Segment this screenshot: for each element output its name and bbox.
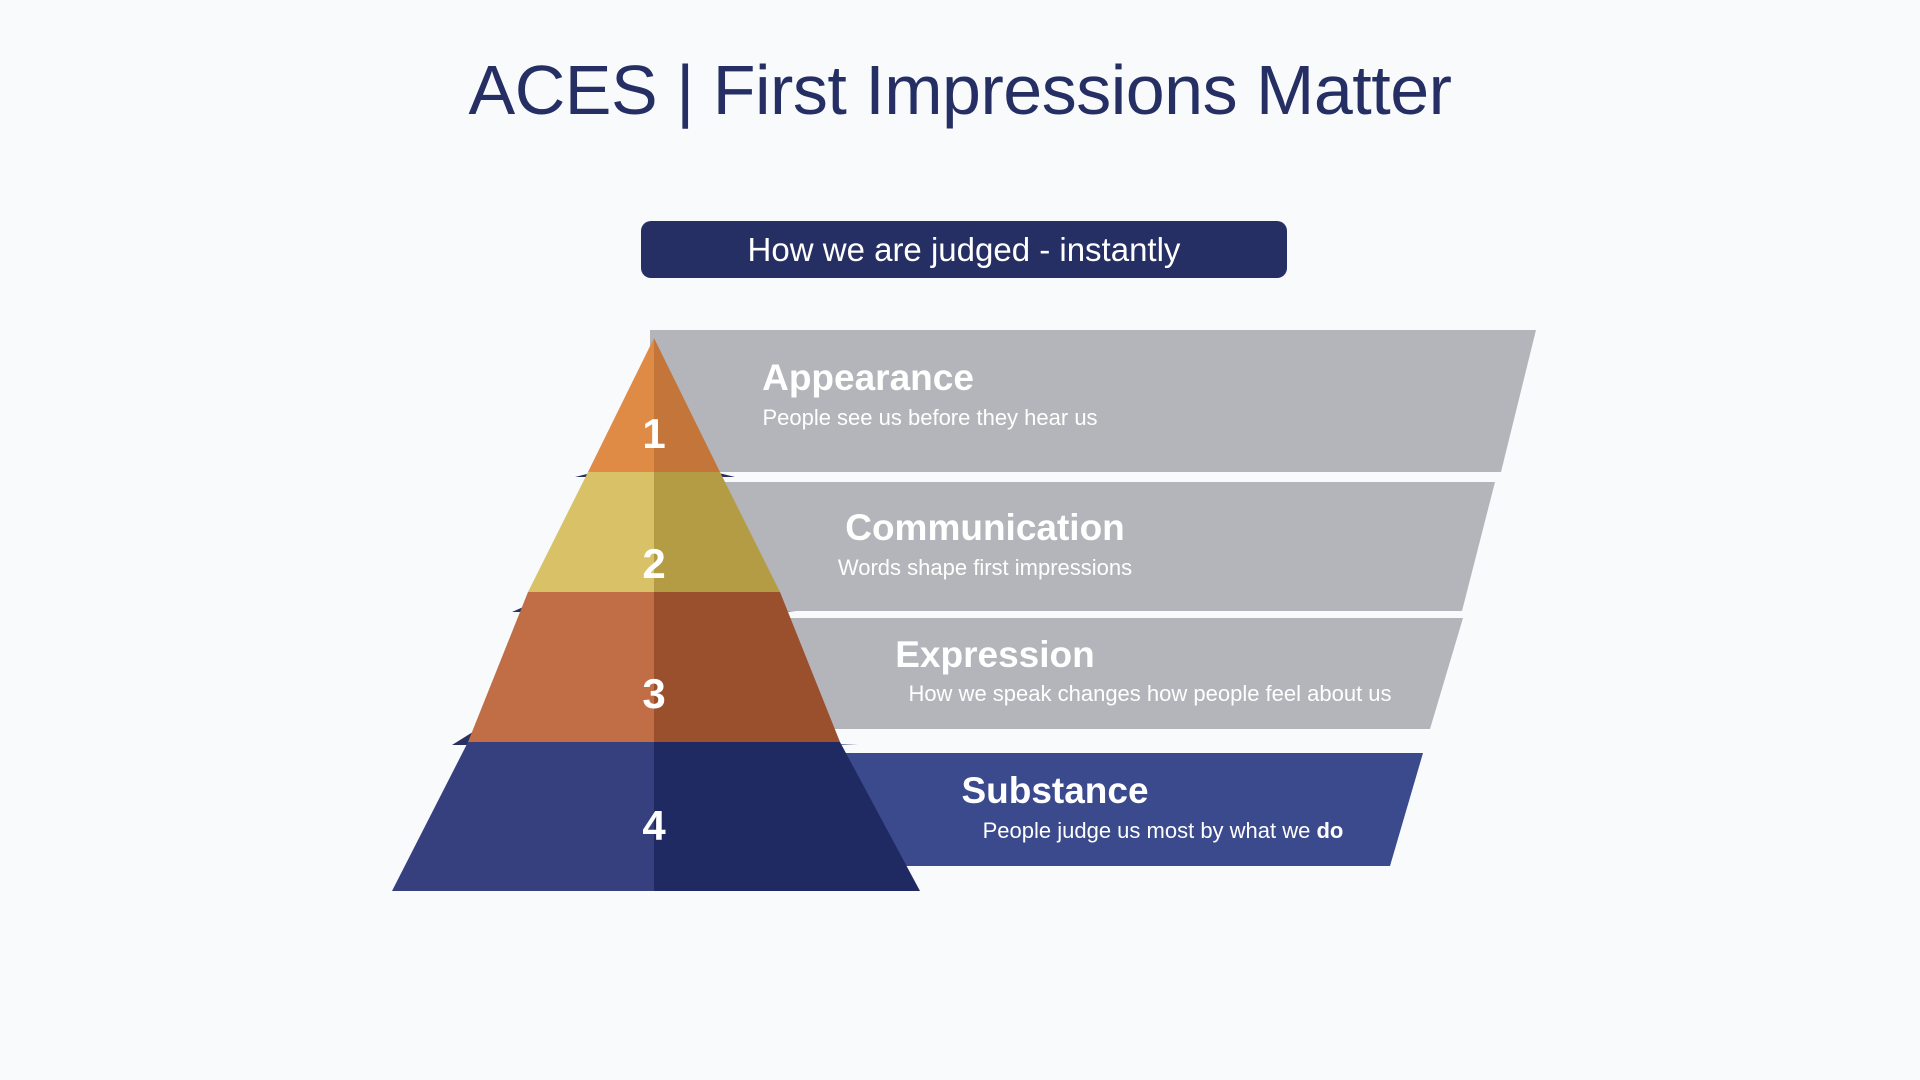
level-number-2: 2 bbox=[642, 540, 665, 587]
level-desc-4-emphasis: do bbox=[1316, 818, 1343, 843]
level-title-3: Expression bbox=[895, 634, 1094, 675]
banner-shape-1 bbox=[650, 330, 1536, 472]
level-desc-4: People judge us most by what we do bbox=[983, 818, 1344, 843]
level-desc-2: Words shape first impressions bbox=[838, 555, 1132, 580]
pyramid-layer-2-left bbox=[528, 472, 654, 592]
level-number-1: 1 bbox=[642, 410, 665, 457]
level-desc-1: People see us before they hear us bbox=[762, 405, 1097, 430]
level-title-4: Substance bbox=[961, 770, 1148, 811]
level-title-1: Appearance bbox=[762, 357, 974, 398]
level-desc-3: How we speak changes how people feel abo… bbox=[908, 681, 1391, 706]
level-number-3: 3 bbox=[642, 670, 665, 717]
level-title-2: Communication bbox=[845, 507, 1125, 548]
level-desc-4-text: People judge us most by what we bbox=[983, 818, 1317, 843]
aces-pyramid-diagram: 1 2 3 4 Appearance People see us before … bbox=[0, 0, 1920, 1080]
level-number-4: 4 bbox=[642, 802, 666, 849]
pyramid-layer-3-left bbox=[468, 592, 654, 742]
slide-canvas: ACES | First Impressions Matter How we a… bbox=[0, 0, 1920, 1080]
pyramid-layer-4-left bbox=[392, 742, 654, 891]
